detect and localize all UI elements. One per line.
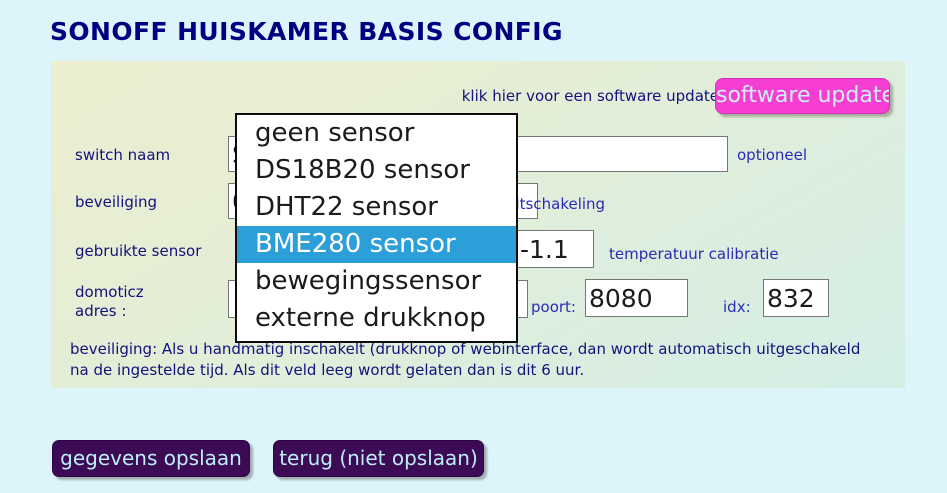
note-beveiliging-uitschakeling: uitschakeling bbox=[506, 195, 605, 213]
label-beveiliging: beveiliging bbox=[75, 193, 157, 212]
dropdown-option-bewegingssensor[interactable]: bewegingssensor bbox=[237, 263, 516, 300]
page-title: SONOFF HUISKAMER BASIS CONFIG bbox=[50, 17, 563, 46]
beveiliging-explanation: beveiliging: Als u handmatig inschakelt … bbox=[70, 339, 870, 381]
software-update-button[interactable]: software update bbox=[715, 78, 890, 114]
label-poort: poort: bbox=[531, 298, 576, 316]
software-update-hint: klik hier voor een software update bbox=[462, 87, 719, 105]
label-domoticz-line1: domoticz bbox=[75, 283, 144, 301]
note-temperatuur-calibratie: temperatuur calibratie bbox=[609, 245, 779, 263]
dropdown-option-geen-sensor[interactable]: geen sensor bbox=[237, 115, 516, 152]
dropdown-option-bme280-sensor[interactable]: BME280 sensor bbox=[237, 226, 516, 263]
note-optioneel: optioneel bbox=[737, 146, 807, 164]
dropdown-option-externe-drukknop[interactable]: externe drukknop bbox=[237, 300, 516, 337]
label-domoticz-line2: adres : bbox=[75, 302, 126, 320]
save-button[interactable]: gegevens opslaan bbox=[52, 440, 250, 477]
back-button[interactable]: terug (niet opslaan) bbox=[273, 440, 484, 477]
poort-input[interactable] bbox=[585, 279, 688, 317]
dropdown-option-dht22-sensor[interactable]: DHT22 sensor bbox=[237, 189, 516, 226]
label-switch-naam: switch naam bbox=[75, 146, 170, 165]
label-gebruikte-sensor: gebruikte sensor bbox=[75, 242, 201, 261]
dropdown-option-ds18b20-sensor[interactable]: DS18B20 sensor bbox=[237, 152, 516, 189]
label-domoticz-adres: domoticzadres : bbox=[75, 283, 144, 321]
temperatuur-calibratie-input[interactable] bbox=[516, 230, 594, 268]
idx-input[interactable] bbox=[763, 279, 829, 317]
label-idx: idx: bbox=[723, 298, 751, 316]
sensor-dropdown-list[interactable]: geen sensor DS18B20 sensor DHT22 sensor … bbox=[235, 113, 518, 343]
